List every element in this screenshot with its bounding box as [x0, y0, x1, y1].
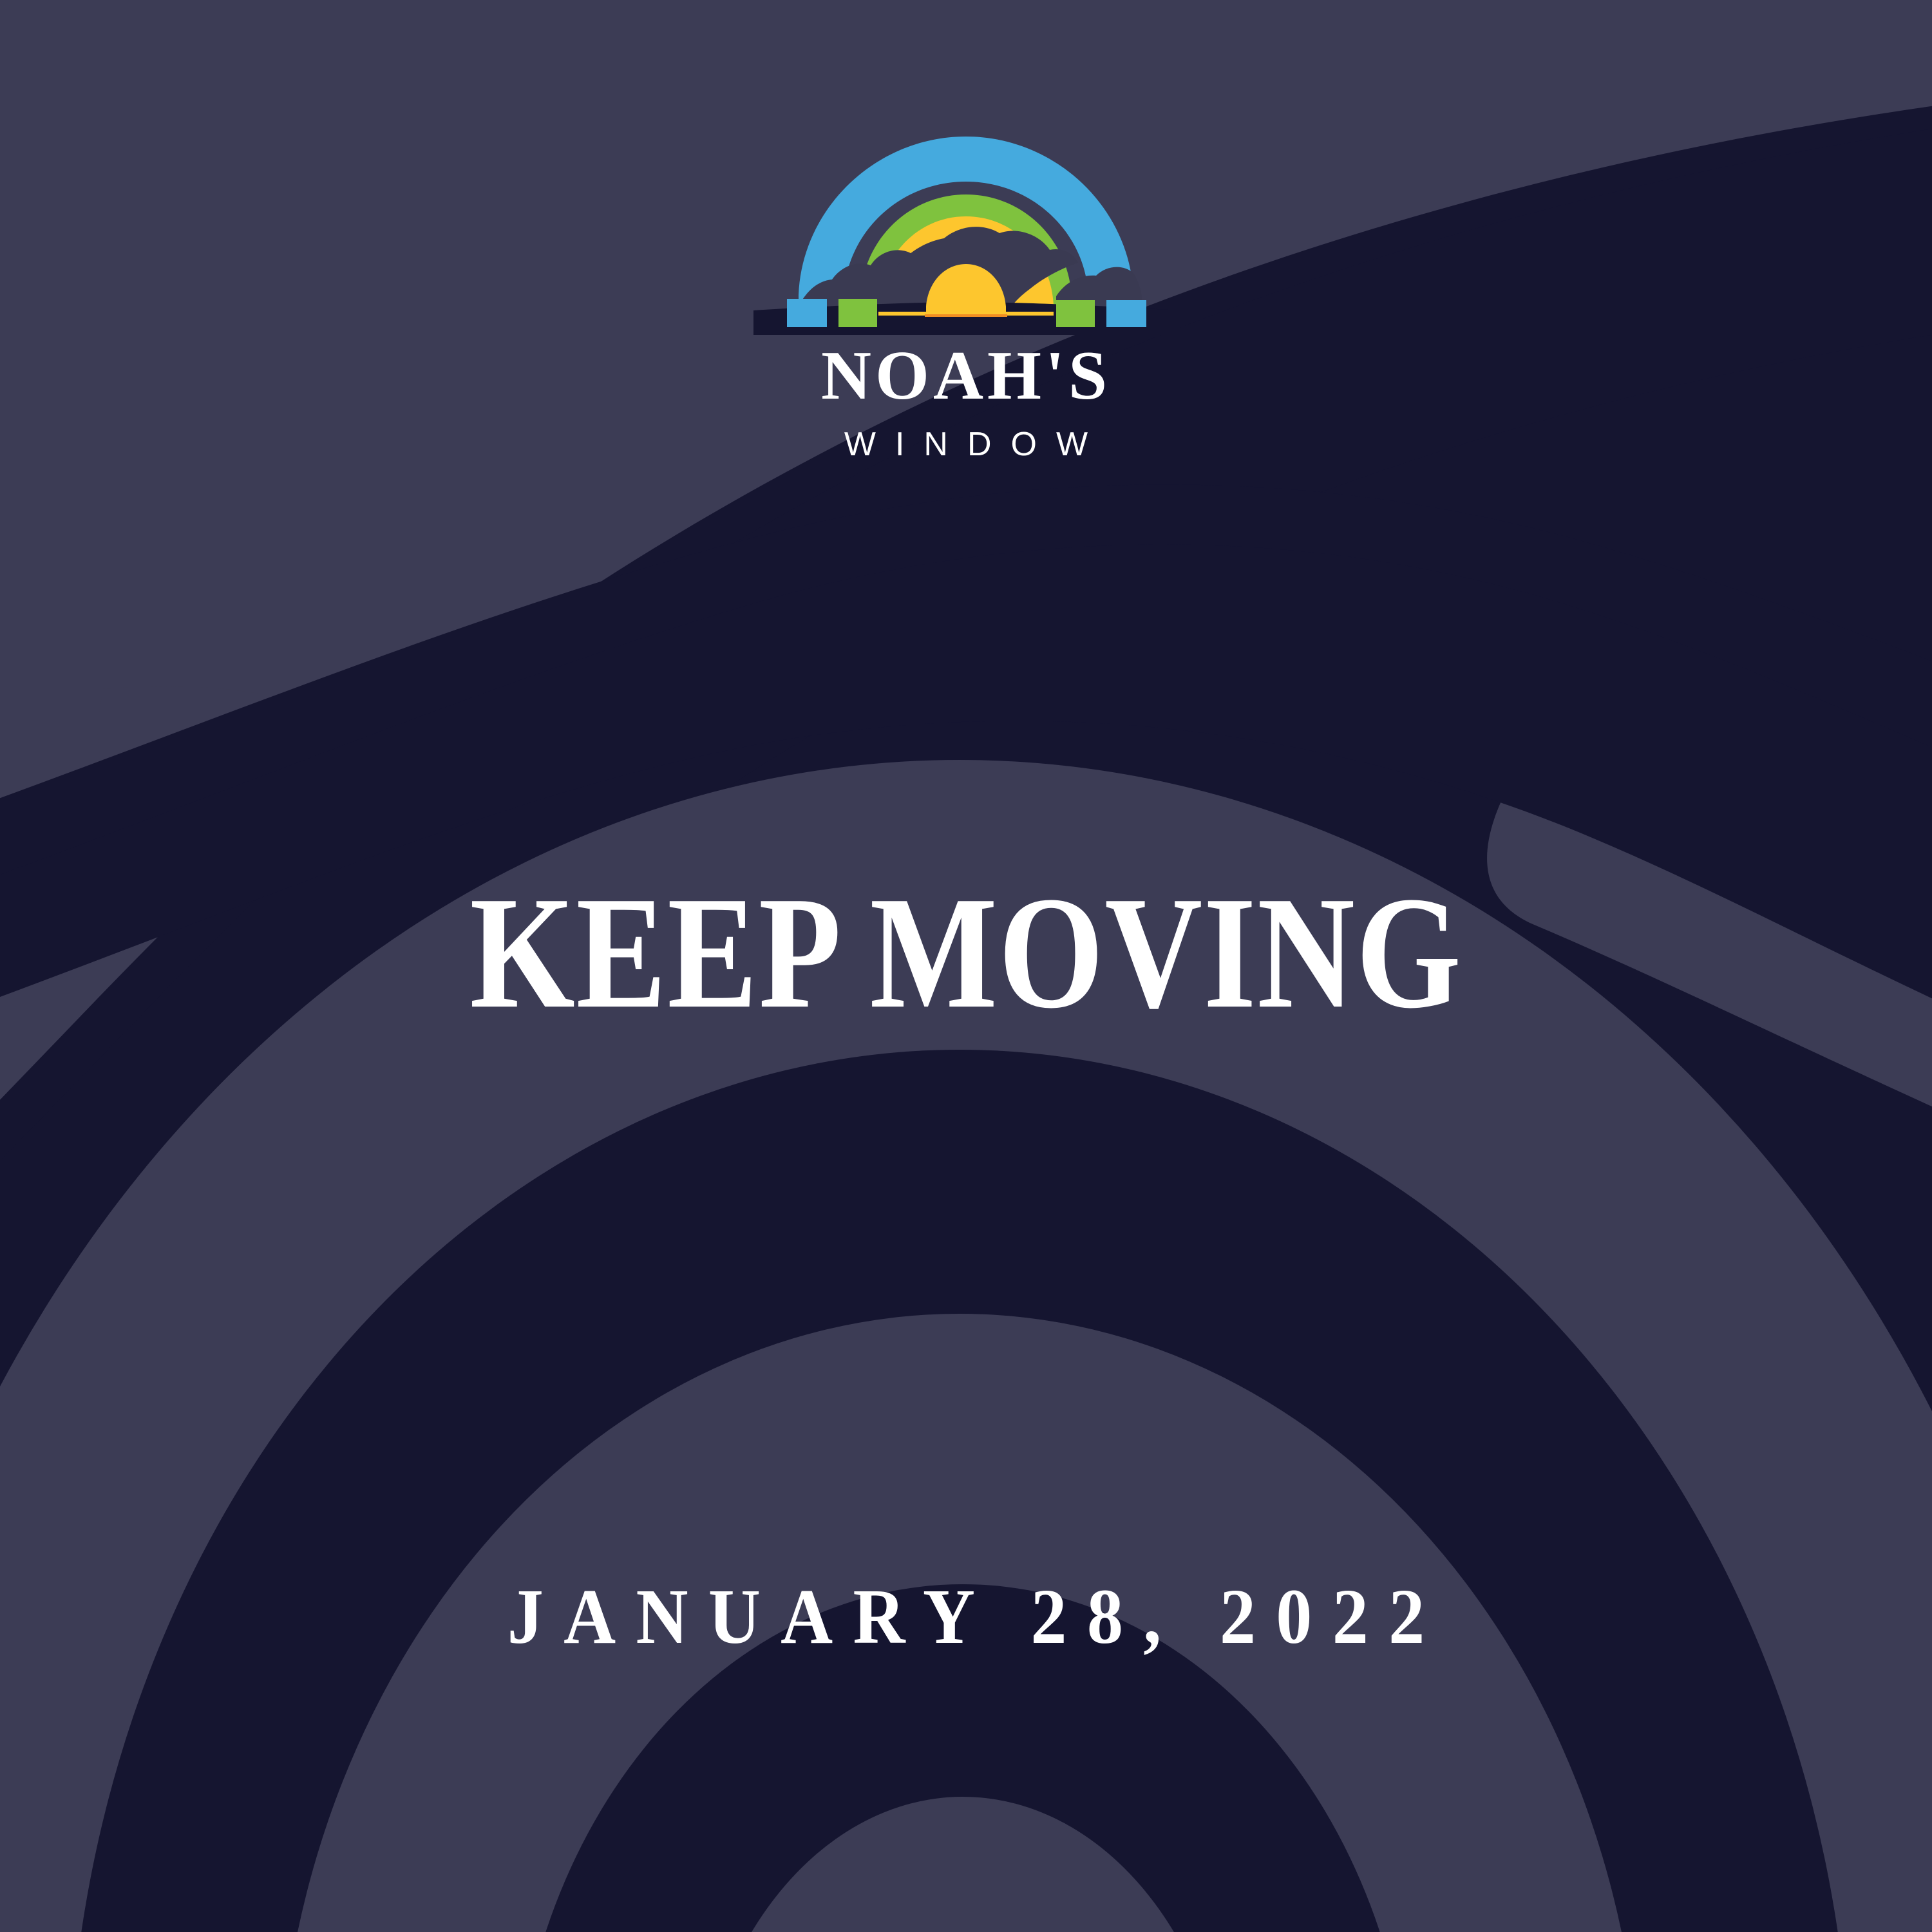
- poster-canvas: NOAH'S WINDOW KEEP MOVING JANUARY 28, 20…: [0, 0, 1932, 1932]
- baseline-green-right: [1056, 300, 1095, 327]
- brand-logo: NOAH'S WINDOW: [0, 122, 1932, 461]
- event-date: JANUARY 28, 2022: [77, 1578, 1855, 1656]
- baseline-blue-right: [1106, 300, 1146, 327]
- logo-wordmark: NOAH'S WINDOW: [821, 341, 1111, 461]
- rainbow-sunrise-icon: [753, 122, 1179, 335]
- logo-subtitle-text: WINDOW: [844, 428, 1107, 461]
- logo-name-text: NOAH'S: [821, 341, 1111, 411]
- icon-sun-orange-base: [925, 314, 1007, 317]
- page-title: KEEP MOVING: [155, 873, 1777, 1034]
- baseline-green-left: [838, 299, 877, 327]
- baseline-blue-left: [787, 299, 827, 327]
